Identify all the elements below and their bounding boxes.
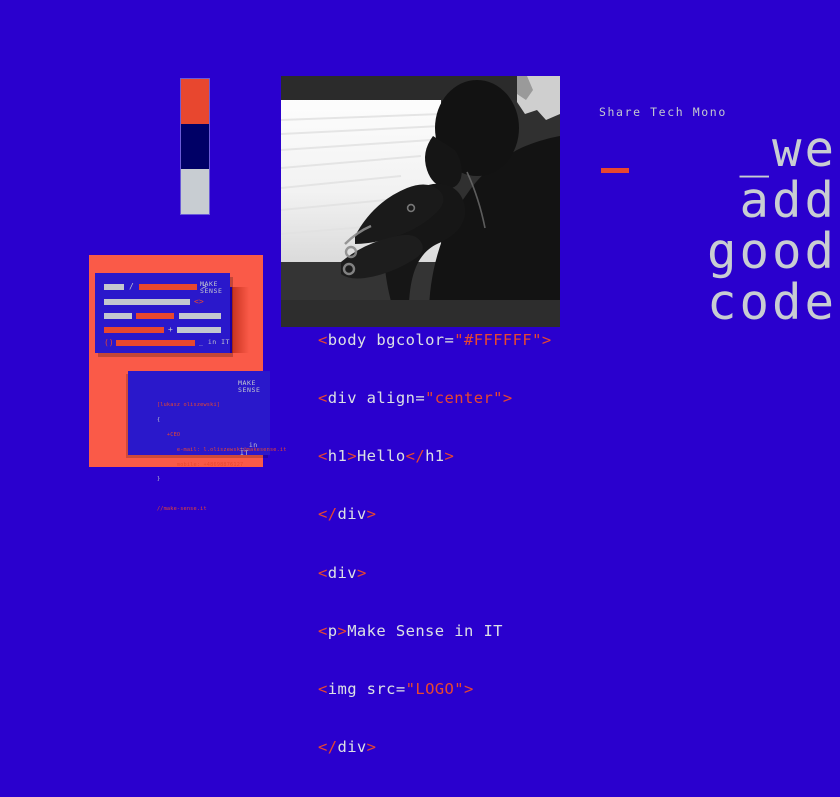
- mock-bar-e1: [116, 340, 195, 346]
- makesense-logo: MAKE SENSE: [238, 380, 261, 394]
- code-line-8: </div>: [318, 738, 552, 757]
- makesense-logo: MAKE SENSE: [200, 281, 223, 295]
- plus-icon: +: [168, 326, 173, 334]
- contact-line-3: +CEO: [157, 432, 180, 438]
- mock-bar-d1: [104, 327, 164, 333]
- red-panel-shadow: [232, 287, 263, 353]
- mock-bar-c2: [136, 313, 174, 319]
- poster-canvas: <body bgcolor="#FFFFFF"> <div align="cen…: [0, 0, 840, 525]
- code-line-5: <div>: [318, 564, 552, 583]
- mock-bar-c1: [104, 313, 132, 319]
- contact-line-8: //make-sense.it: [157, 506, 207, 512]
- slash-icon: /: [129, 283, 134, 291]
- ui-mockup-card: / > <> + () _ in IT MAKE SENSE: [95, 273, 230, 353]
- headline-line-2: add: [597, 175, 837, 226]
- parens-icon: (): [104, 339, 114, 347]
- mock-bar-d2: [177, 327, 221, 333]
- hero-photo: [281, 76, 560, 327]
- html-code-snippet: <body bgcolor="#FFFFFF"> <div align="cen…: [318, 292, 552, 797]
- mock-bar-a1: [104, 284, 124, 290]
- mock-bar-c3: [179, 313, 221, 319]
- headline-line-1: _we: [597, 124, 837, 175]
- brand-color-swatches: [180, 78, 210, 215]
- contact-line-6: }: [157, 476, 160, 482]
- business-card-contact: [lukasz oliszewski] { +CEO e-mail: l.oli…: [137, 395, 287, 521]
- code-line-4: </div>: [318, 505, 552, 524]
- code-line-2: <div align="center">: [318, 389, 552, 408]
- contact-line-1: [lukasz oliszewski]: [157, 402, 220, 408]
- logo-line-2: SENSE: [238, 387, 261, 394]
- code-line-3: <h1>Hello</h1>: [318, 447, 552, 466]
- card-footer-tagline: _ in IT: [240, 441, 270, 457]
- logo-line-2: SENSE: [200, 288, 223, 295]
- hero-photo-artwork: [281, 76, 560, 327]
- headline-line-3: good: [597, 226, 837, 277]
- font-name-label: Share Tech Mono: [599, 105, 727, 119]
- angle-brackets-icon: <>: [194, 298, 204, 306]
- code-line-1: <body bgcolor="#FFFFFF">: [318, 331, 552, 350]
- card-footer-tagline: _ in IT: [199, 338, 230, 346]
- contact-line-2: {: [157, 417, 160, 423]
- mock-bar-a2: [139, 284, 197, 290]
- underscore-accent: [601, 168, 629, 173]
- swatch-navy: [181, 124, 209, 169]
- code-line-6: <p>Make Sense in IT: [318, 622, 552, 641]
- mock-bar-b1: [104, 299, 190, 305]
- headline-line-4: code: [597, 277, 837, 328]
- contact-line-5: mobile: +48698876127: [157, 462, 243, 468]
- code-line-7: <img src="LOGO">: [318, 680, 552, 699]
- headline: _we add good code: [597, 124, 837, 328]
- swatch-red: [181, 79, 209, 124]
- swatch-gray: [181, 169, 209, 214]
- business-card-mockup: MAKE SENSE [lukasz oliszewski] { +CEO e-…: [128, 371, 270, 455]
